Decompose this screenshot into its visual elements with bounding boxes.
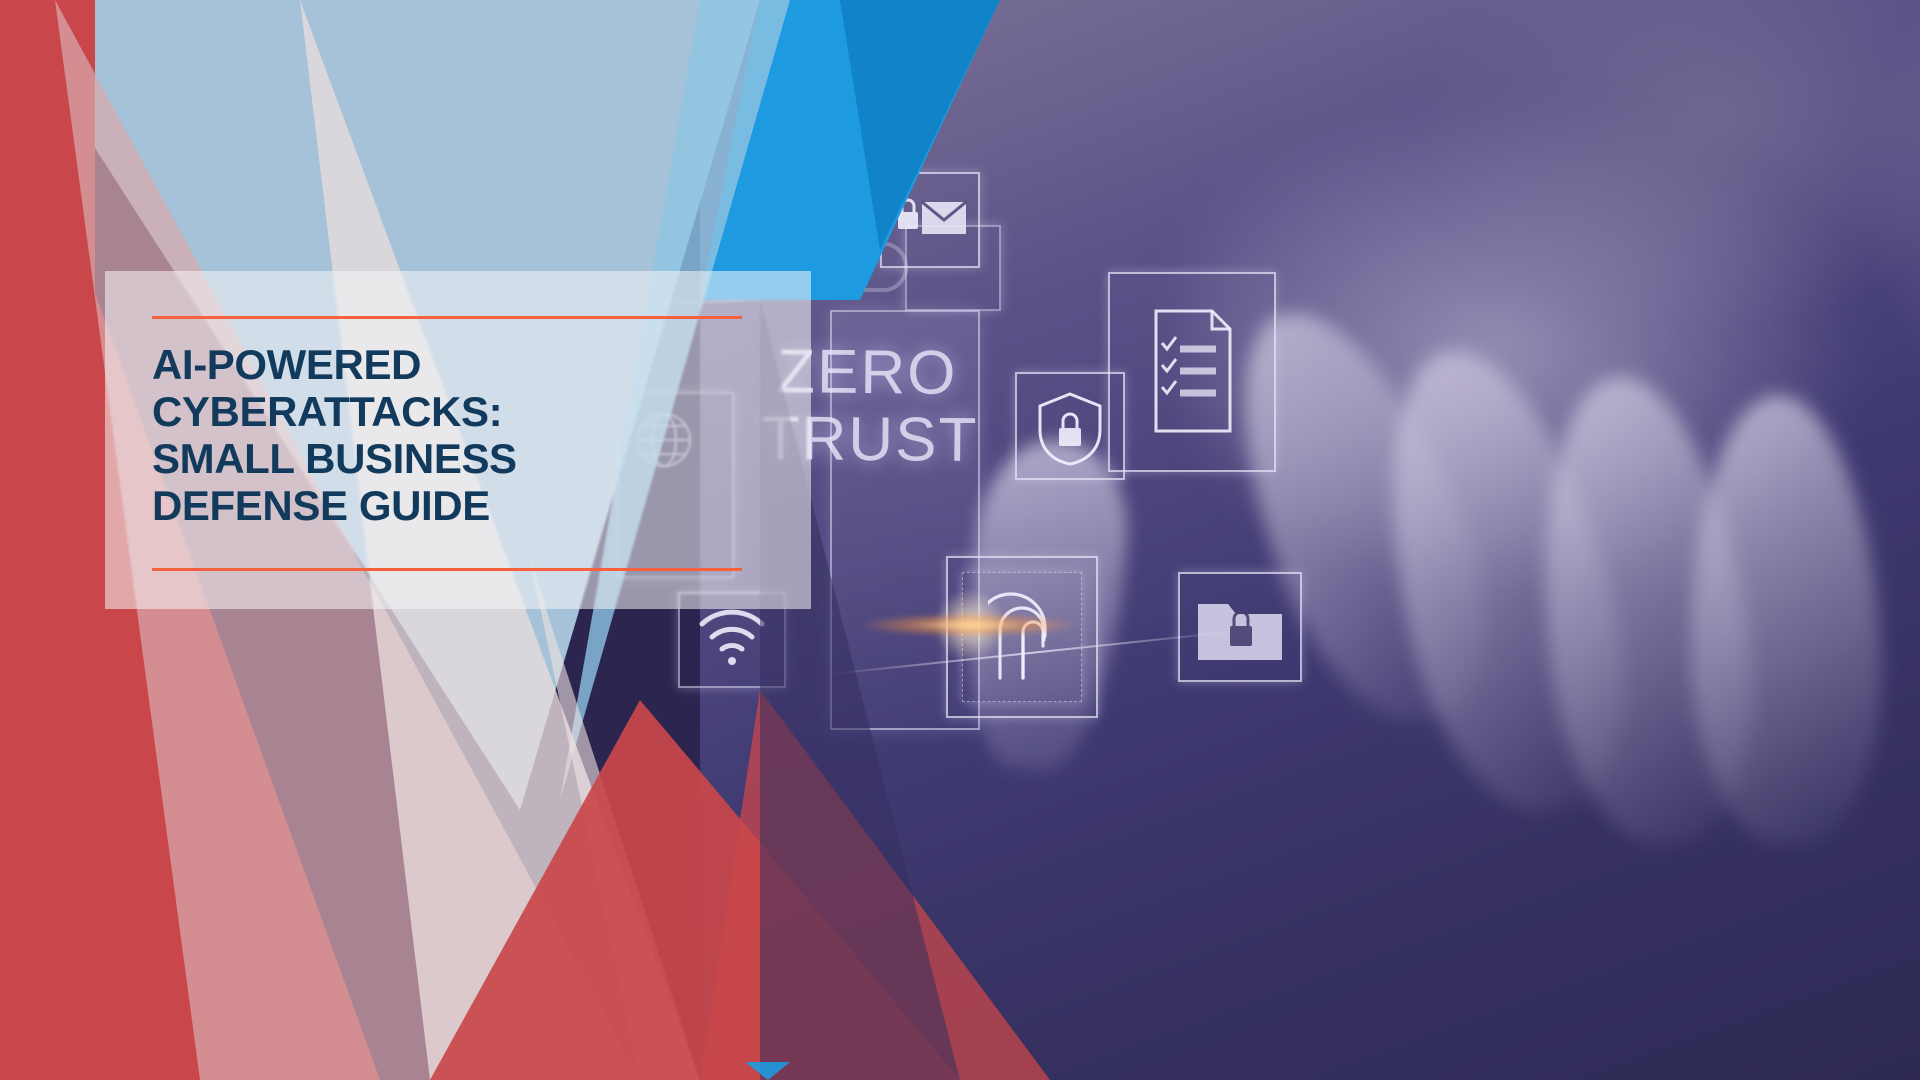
title-line-1: AI-Powered bbox=[152, 341, 752, 388]
article-hero-banner: ZERO TRUST bbox=[0, 0, 1920, 1080]
title-line-2: Cyberattacks: bbox=[152, 388, 752, 435]
title-line-3: Small Business bbox=[152, 435, 752, 482]
divider-bottom bbox=[152, 568, 742, 571]
page-title: AI-Powered Cyberattacks: Small Business … bbox=[152, 341, 752, 529]
divider-top bbox=[152, 316, 742, 319]
title-line-4: Defense Guide bbox=[152, 482, 752, 529]
